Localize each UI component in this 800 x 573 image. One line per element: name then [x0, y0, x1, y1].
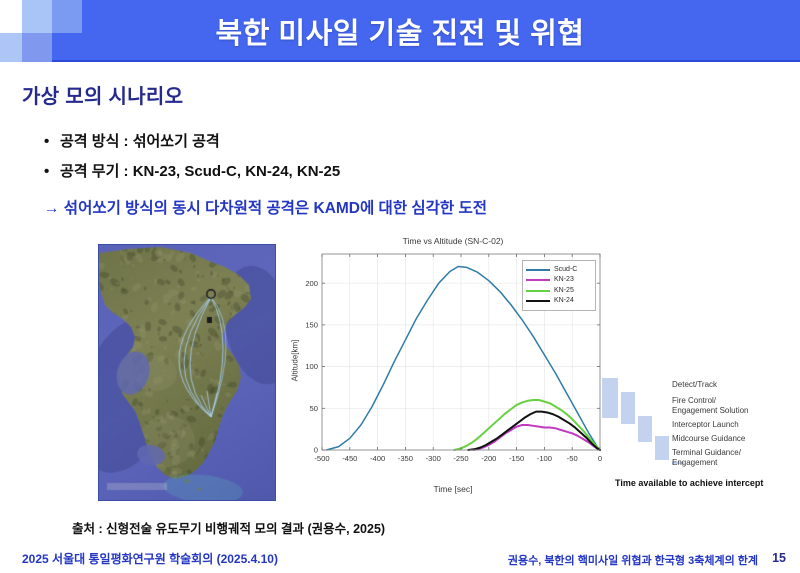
intercept-step-label: Detect/Track	[672, 380, 717, 390]
legend-item: Scud-C	[526, 265, 592, 275]
svg-text:50: 50	[310, 404, 318, 413]
intercept-step-label: Terminal Guidance/ Engagement	[672, 448, 741, 467]
intercept-caption: Time available to achieve intercept	[615, 478, 763, 488]
slide-header: 북한 미사일 기술 진전 및 위협	[0, 0, 800, 63]
bullet-item: •공격 무기 : KN-23, Scud-C, KN-24, KN-25	[44, 160, 340, 181]
page-title: 북한 미사일 기술 진전 및 위협	[0, 0, 800, 62]
bullet-label: 공격 무기 : KN-23, Scud-C, KN-24, KN-25	[60, 163, 340, 180]
svg-text:-50: -50	[567, 454, 578, 463]
intercept-bar-midcourse	[655, 436, 669, 460]
svg-text:-450: -450	[342, 454, 357, 463]
legend-label: Scud-C	[554, 265, 577, 275]
chart-x-axis-label: Time [sec]	[288, 484, 618, 494]
svg-text:0: 0	[314, 446, 318, 455]
intercept-bar-interceptor-launch	[638, 416, 652, 442]
legend-label: KN-24	[554, 296, 574, 306]
trajectory-map	[98, 244, 276, 501]
footer-left-text: 2025 서울대 통일평화연구원 학술회의 (2025.4.10)	[22, 550, 278, 567]
svg-text:-250: -250	[453, 454, 468, 463]
legend-swatch-scud-c	[526, 269, 550, 271]
svg-text:-150: -150	[509, 454, 524, 463]
svg-text:200: 200	[305, 279, 318, 288]
svg-text:150: 150	[305, 320, 318, 329]
conclusion-line: → 섞어쏘기 방식의 동시 다차원적 공격은 KAMD에 대한 심각한 도전	[44, 196, 487, 218]
page-number: 15	[772, 551, 786, 565]
footer-right-text: 권용수, 북한의 핵미사일 위협과 한국형 3축체계의 한계	[508, 552, 758, 568]
intercept-step-label: Fire Control/ Engagement Solution	[672, 396, 749, 415]
legend-item: KN-25	[526, 286, 592, 296]
intercept-step-label: Interceptor Launch	[672, 420, 739, 430]
legend-item: KN-23	[526, 275, 592, 285]
source-note: 출처 : 신형전술 유도무기 비행궤적 모의 결과 (권용수, 2025)	[72, 518, 385, 537]
legend-swatch-kn-25	[526, 290, 550, 292]
svg-text:-100: -100	[537, 454, 552, 463]
legend-swatch-kn-24	[526, 300, 550, 302]
bullet-label: 공격 방식 : 섞어쏘기 공격	[60, 133, 220, 150]
legend-label: KN-23	[554, 275, 574, 285]
svg-text:100: 100	[305, 362, 318, 371]
altitude-time-chart: Time vs Altitude (SN-C-02) Altitude[km] …	[288, 236, 618, 504]
chart-title: Time vs Altitude (SN-C-02)	[288, 236, 618, 246]
section-heading: 가상 모의 시나리오	[22, 80, 183, 109]
intercept-bar-fire-control	[621, 392, 635, 424]
svg-text:-350: -350	[398, 454, 413, 463]
legend-label: KN-25	[554, 286, 574, 296]
svg-text:-400: -400	[370, 454, 385, 463]
bullet-marker: •	[44, 163, 60, 180]
intercept-step-label: Midcourse Guidance	[672, 434, 745, 444]
intercept-bar-detect-track	[602, 378, 618, 418]
svg-text:-500: -500	[314, 454, 329, 463]
bullet-marker: •	[44, 133, 60, 150]
chart-legend: Scud-C KN-23 KN-25 KN-24	[522, 260, 596, 311]
svg-text:-300: -300	[426, 454, 441, 463]
legend-swatch-kn-23	[526, 279, 550, 281]
svg-text:-200: -200	[481, 454, 496, 463]
legend-item: KN-24	[526, 296, 592, 306]
map-canvas	[99, 245, 275, 500]
bullet-item: •공격 방식 : 섞어쏘기 공격	[44, 130, 220, 151]
